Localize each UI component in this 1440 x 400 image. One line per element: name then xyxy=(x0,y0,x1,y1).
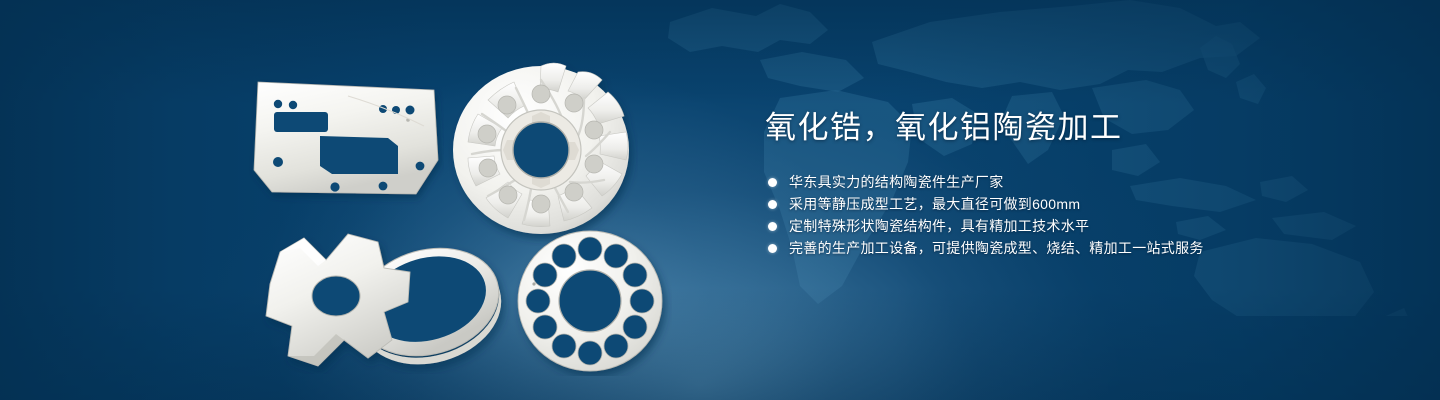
promo-banner: 氧化锆，氧化铝陶瓷加工 华东具实力的结构陶瓷件生产厂家 采用等静压成型工艺，最大… xyxy=(0,0,1440,400)
feature-item-label: 采用等静压成型工艺，最大直径可做到600mm xyxy=(789,196,1080,212)
banner-headline: 氧化锆，氧化铝陶瓷加工 xyxy=(765,108,1385,148)
feature-item-label: 定制特殊形状陶瓷结构件，具有精加工技术水平 xyxy=(789,218,1089,234)
ceramic-perforated-ring-disc xyxy=(512,226,672,376)
product-photo-cluster xyxy=(0,0,740,400)
bullet-dot-icon xyxy=(768,200,777,209)
ceramic-cross-plate-and-ring xyxy=(252,224,518,374)
bullet-dot-icon xyxy=(768,222,777,231)
feature-list: 华东具实力的结构陶瓷件生产厂家 采用等静压成型工艺，最大直径可做到600mm 定… xyxy=(768,175,1385,256)
feature-item-label: 完善的生产加工设备，可提供陶瓷成型、烧结、精加工一站式服务 xyxy=(789,240,1204,256)
feature-item: 华东具实力的结构陶瓷件生产厂家 xyxy=(768,175,1385,190)
ceramic-plate-with-cutouts xyxy=(248,74,444,206)
feature-item: 定制特殊形状陶瓷结构件，具有精加工技术水平 xyxy=(768,219,1385,234)
feature-item: 完善的生产加工设备，可提供陶瓷成型、烧结、精加工一站式服务 xyxy=(768,241,1385,256)
bullet-dot-icon xyxy=(768,178,777,187)
banner-text-column: 氧化锆，氧化铝陶瓷加工 华东具实力的结构陶瓷件生产厂家 采用等静压成型工艺，最大… xyxy=(765,108,1385,263)
bullet-dot-icon xyxy=(768,244,777,253)
ceramic-impeller-vaned-disc xyxy=(444,50,638,246)
feature-item: 采用等静压成型工艺，最大直径可做到600mm xyxy=(768,197,1385,212)
feature-item-label: 华东具实力的结构陶瓷件生产厂家 xyxy=(789,174,1004,190)
